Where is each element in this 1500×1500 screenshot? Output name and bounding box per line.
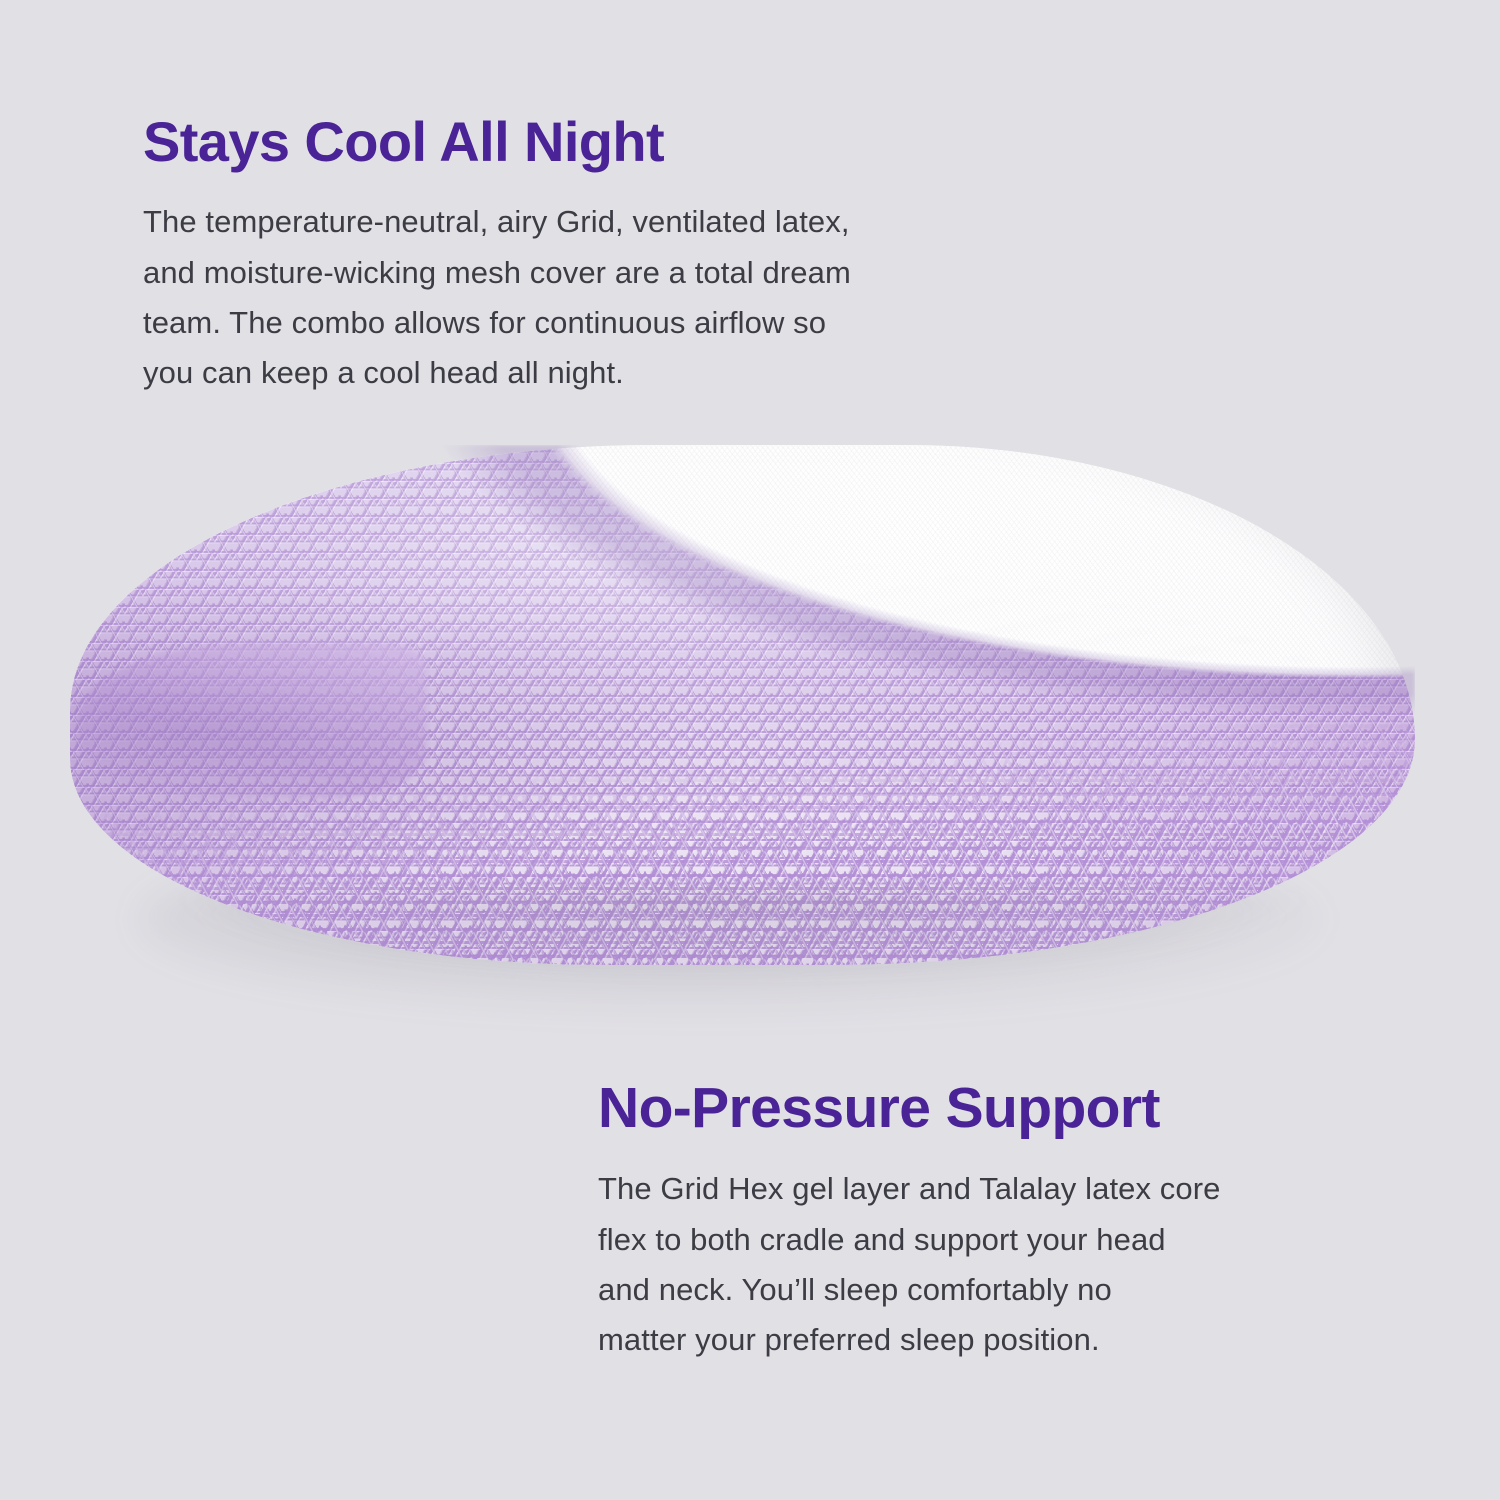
gel-cover-boundary <box>70 445 1415 965</box>
body-line: you can keep a cool head all night. <box>143 348 1103 398</box>
feature-block-stays-cool: Stays Cool All Night The temperature-neu… <box>143 112 1103 398</box>
feature-panel: Stays Cool All Night The temperature-neu… <box>0 0 1500 1500</box>
pillow-contact-shadow <box>178 892 1308 975</box>
body-line: and moisture-wicking mesh cover are a to… <box>143 248 1103 298</box>
body-line: team. The combo allows for continuous ai… <box>143 298 1103 348</box>
feature-heading-stays-cool: Stays Cool All Night <box>143 112 1103 171</box>
pillow-photo <box>0 400 1500 1080</box>
feature-block-no-pressure-support: No-Pressure Support The Grid Hex gel lay… <box>598 1078 1398 1365</box>
pillow-body <box>70 445 1415 965</box>
body-line: flex to both cradle and support your hea… <box>598 1215 1398 1265</box>
feature-heading-no-pressure-support: No-Pressure Support <box>598 1078 1398 1138</box>
body-line: matter your preferred sleep position. <box>598 1315 1398 1365</box>
feature-body-stays-cool: The temperature-neutral, airy Grid, vent… <box>143 197 1103 398</box>
feature-body-no-pressure-support: The Grid Hex gel layer and Talalay latex… <box>598 1164 1398 1365</box>
body-line: and neck. You’ll sleep comfortably no <box>598 1265 1398 1315</box>
body-line: The Grid Hex gel layer and Talalay latex… <box>598 1164 1398 1214</box>
body-line: The temperature-neutral, airy Grid, vent… <box>143 197 1103 247</box>
